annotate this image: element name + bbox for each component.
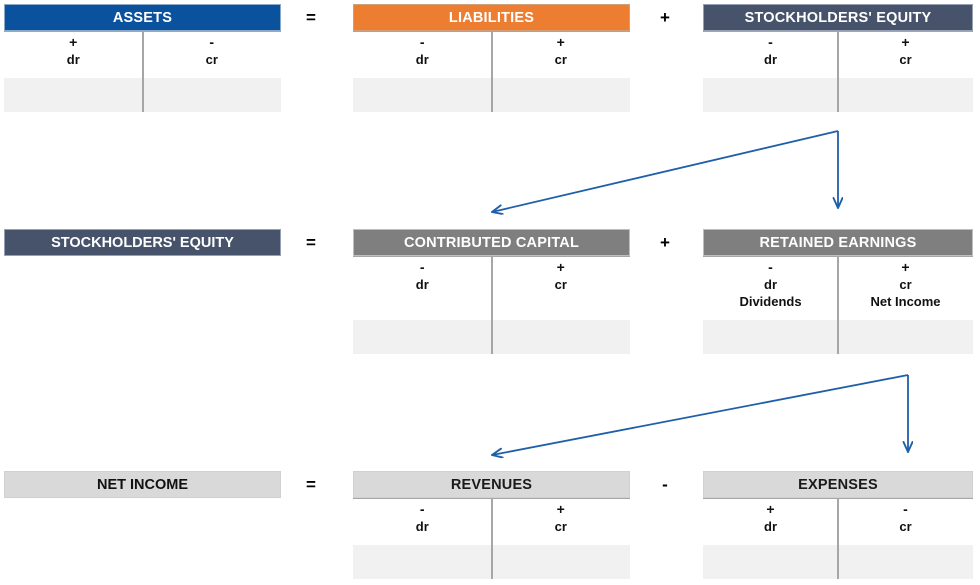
debit-column: - dr — [703, 32, 838, 68]
credit-column: - cr — [838, 499, 973, 535]
account-header-net-income: NET INCOME — [4, 471, 281, 498]
credit-sign: + — [557, 34, 565, 51]
account-header-revenues: REVENUES — [353, 471, 630, 498]
account-block-stockholders-equity: STOCKHOLDERS' EQUITY - dr + cr — [703, 4, 973, 112]
t-account-divider — [142, 32, 144, 112]
debit-abbr: dr — [764, 518, 777, 535]
account-header-assets: ASSETS — [4, 4, 281, 31]
credit-abbr: cr — [555, 518, 567, 535]
credit-column: + cr — [492, 257, 631, 293]
connector-equity-to-breakdown — [492, 131, 838, 212]
account-header-liabilities: LIABILITIES — [353, 4, 630, 31]
account-block-revenues: REVENUES - dr + cr — [353, 471, 630, 579]
operator-equals-row1: = — [298, 4, 324, 31]
credit-abbr: cr — [899, 518, 911, 535]
credit-column: + cr — [492, 32, 631, 68]
account-block-liabilities: LIABILITIES - dr + cr — [353, 4, 630, 112]
credit-abbr: cr — [555, 276, 567, 293]
t-account-divider — [491, 257, 493, 354]
debit-sign: + — [766, 501, 774, 518]
credit-column: - cr — [143, 32, 282, 68]
t-account-divider — [491, 499, 493, 579]
credit-sign: + — [557, 259, 565, 276]
credit-sign: + — [557, 501, 565, 518]
debit-sign: - — [420, 501, 425, 518]
credit-abbr: cr — [555, 51, 567, 68]
debit-abbr: dr — [764, 276, 777, 293]
debit-sign: - — [768, 34, 773, 51]
operator-equals-row3: = — [298, 471, 324, 498]
account-block-contributed-capital: CONTRIBUTED CAPITAL - dr + cr — [353, 229, 630, 354]
debit-column: - dr Dividends — [703, 257, 838, 310]
account-header-retained-earnings: RETAINED EARNINGS — [703, 229, 973, 256]
credit-column: + cr Net Income — [838, 257, 973, 310]
t-account-divider — [837, 257, 839, 354]
debit-sublabel-dividends: Dividends — [739, 293, 801, 310]
debit-sign: - — [768, 259, 773, 276]
t-account-divider — [837, 499, 839, 579]
accounting-equation-diagram: ASSETS + dr - cr = LIABILITIES - dr + — [0, 0, 980, 585]
credit-column: + cr — [492, 499, 631, 535]
operator-plus-row1: + — [652, 4, 678, 31]
operator-plus-row2: + — [652, 229, 678, 256]
debit-sign: + — [69, 34, 77, 51]
account-header-stockholders-equity-2: STOCKHOLDERS' EQUITY — [4, 229, 281, 256]
credit-sign: - — [903, 501, 908, 518]
credit-sign: - — [209, 34, 214, 51]
operator-equals-row2: = — [298, 229, 324, 256]
debit-abbr: dr — [416, 276, 429, 293]
credit-sign: + — [901, 259, 909, 276]
account-header-expenses: EXPENSES — [703, 471, 973, 498]
operator-minus-row3: - — [652, 471, 678, 498]
credit-abbr: cr — [899, 276, 911, 293]
debit-column: - dr — [353, 499, 492, 535]
credit-abbr: cr — [206, 51, 218, 68]
debit-sign: - — [420, 259, 425, 276]
t-account-divider — [491, 32, 493, 112]
credit-abbr: cr — [899, 51, 911, 68]
account-block-assets: ASSETS + dr - cr — [4, 4, 281, 112]
connector-retained-to-income — [492, 375, 908, 455]
debit-column: + dr — [703, 499, 838, 535]
account-block-expenses: EXPENSES + dr - cr — [703, 471, 973, 579]
debit-abbr: dr — [764, 51, 777, 68]
account-header-contributed-capital: CONTRIBUTED CAPITAL — [353, 229, 630, 256]
debit-abbr: dr — [416, 518, 429, 535]
debit-abbr: dr — [416, 51, 429, 68]
credit-column: + cr — [838, 32, 973, 68]
debit-column: + dr — [4, 32, 143, 68]
credit-sign: + — [901, 34, 909, 51]
account-header-stockholders-equity: STOCKHOLDERS' EQUITY — [703, 4, 973, 31]
debit-sign: - — [420, 34, 425, 51]
credit-sublabel-net-income: Net Income — [870, 293, 940, 310]
account-block-retained-earnings: RETAINED EARNINGS - dr Dividends + cr Ne… — [703, 229, 973, 354]
debit-column: - dr — [353, 32, 492, 68]
debit-abbr: dr — [67, 51, 80, 68]
debit-column: - dr — [353, 257, 492, 293]
t-account-divider — [837, 32, 839, 112]
